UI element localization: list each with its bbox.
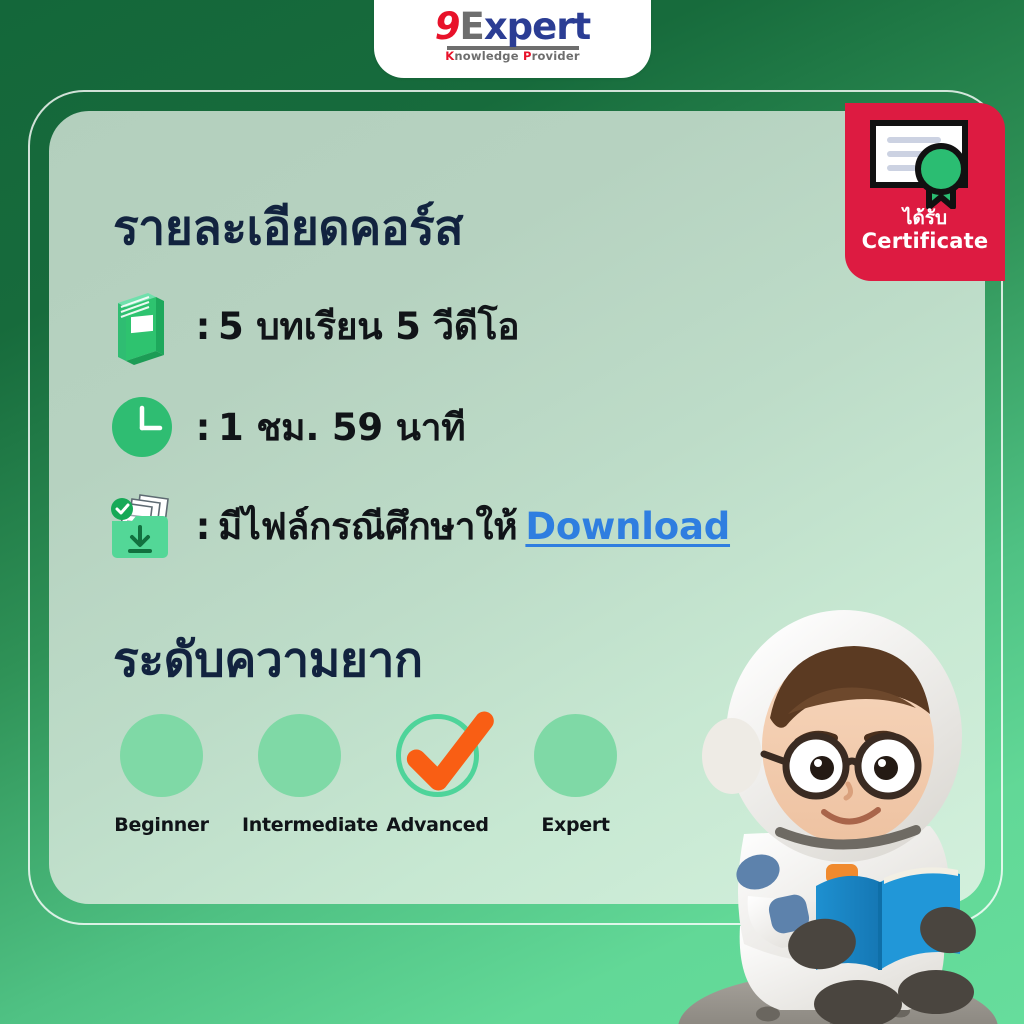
download-folder-icon <box>104 487 188 565</box>
astronaut-reading-book-illustration <box>648 596 1024 1024</box>
difficulty-level-expert[interactable]: Expert <box>518 714 633 836</box>
detail-row-duration: : 1 ชม. 59 นาที <box>104 388 466 466</box>
page-title: รายละเอียดคอร์ส <box>113 190 463 266</box>
brand-logo-tab[interactable]: 9Expert Knowledge Provider <box>374 0 651 78</box>
download-link[interactable]: Download <box>525 505 730 548</box>
difficulty-level-intermediate[interactable]: Intermediate <box>242 714 357 836</box>
brand-logo-rest: xpert <box>484 5 590 48</box>
brand-logo: 9Expert Knowledge Provider <box>374 8 651 63</box>
book-icon <box>104 287 188 365</box>
difficulty-level-advanced[interactable]: Advanced <box>380 714 495 836</box>
difficulty-level-beginner[interactable]: Beginner <box>104 714 219 836</box>
difficulty-section-title: ระดับความยาก <box>113 622 423 698</box>
certificate-badge-line2: Certificate <box>845 229 1005 254</box>
level-label-beginner: Beginner <box>104 814 219 836</box>
detail-value-files-text: มีไฟล์กรณีศึกษาให้ <box>218 505 517 548</box>
brand-logo-digit: 9 <box>435 5 460 48</box>
brand-tagline-p: P <box>523 49 532 63</box>
check-icon <box>394 707 498 803</box>
detail-value-files: มีไฟล์กรณีศึกษาให้Download <box>218 497 730 556</box>
clock-icon <box>104 388 188 466</box>
detail-separator: : <box>188 406 218 449</box>
detail-row-files: : มีไฟล์กรณีศึกษาให้Download <box>104 487 730 565</box>
certificate-badge: ได้รับ Certificate <box>845 103 1005 281</box>
level-label-intermediate: Intermediate <box>242 814 357 836</box>
detail-value-lessons: 5 บทเรียน 5 วีดีโอ <box>218 297 519 356</box>
certificate-badge-line1: ได้รับ <box>845 207 1005 229</box>
detail-separator: : <box>188 505 218 548</box>
course-detail-infographic: รายละเอียดคอร์ส ระดับความยาก <box>0 0 1024 1024</box>
brand-logo-wordmark: 9Expert <box>374 8 651 45</box>
brand-tagline-nowledge: nowledge <box>454 49 523 63</box>
level-dot-intermediate <box>258 714 341 797</box>
certificate-badge-text: ได้รับ Certificate <box>845 207 1005 254</box>
brand-logo-letter: E <box>460 5 484 48</box>
brand-tagline-rovider: rovider <box>532 49 580 63</box>
detail-value-duration: 1 ชม. 59 นาที <box>218 398 466 457</box>
level-label-expert: Expert <box>518 814 633 836</box>
certificate-icon <box>867 117 985 209</box>
level-dot-beginner <box>120 714 203 797</box>
detail-separator: : <box>188 305 218 348</box>
brand-tagline: Knowledge Provider <box>374 51 651 63</box>
difficulty-level-group: Beginner Intermediate Advanced Expert <box>104 714 633 836</box>
level-label-advanced: Advanced <box>380 814 495 836</box>
level-dot-expert <box>534 714 617 797</box>
detail-row-lessons: : 5 บทเรียน 5 วีดีโอ <box>104 287 519 365</box>
